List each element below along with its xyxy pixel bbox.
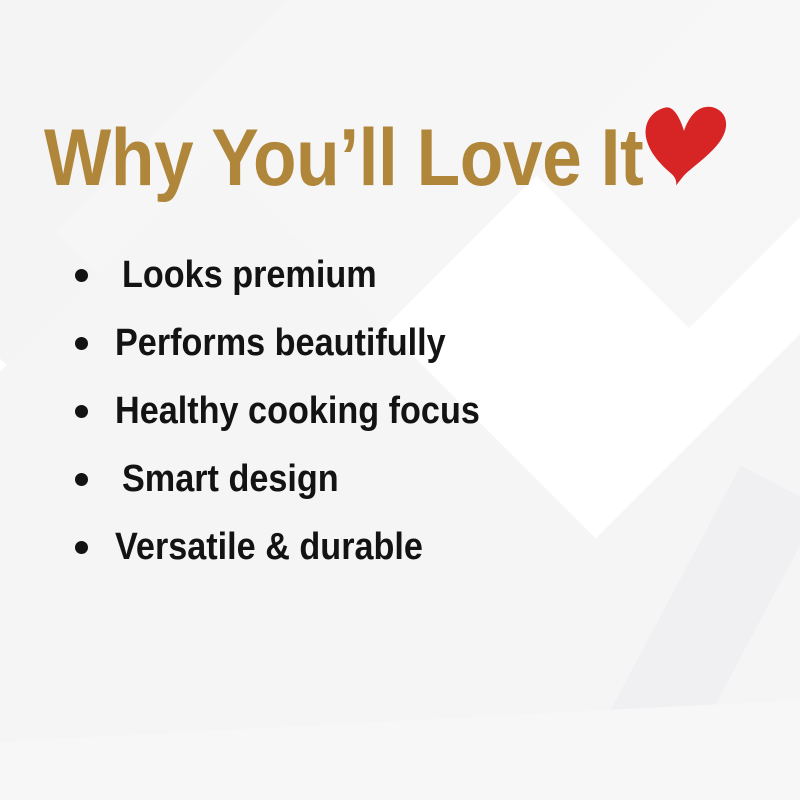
benefit-label-4: Smart design — [122, 459, 339, 499]
bullet-dot-icon — [75, 269, 88, 282]
benefits-list: Looks premium Performs beautifully Healt… — [70, 241, 730, 581]
bullet-dot-icon — [75, 541, 88, 554]
headline-row: Why You’ll Love It — [44, 116, 725, 200]
list-item: Healthy cooking focus — [70, 377, 730, 445]
background-facet-bottom-wash — [0, 695, 800, 800]
benefit-label-5: Versatile & durable — [115, 527, 423, 567]
bullet-dot-icon — [75, 337, 88, 350]
bullet-dot-icon — [75, 473, 88, 486]
list-item: Versatile & durable — [70, 513, 730, 581]
list-item: Smart design — [70, 445, 730, 513]
benefit-label-3: Healthy cooking focus — [115, 391, 480, 431]
heart-icon — [641, 99, 733, 195]
list-item: Performs beautifully — [70, 309, 730, 377]
why-you-will-love-it-poster: Why You’ll Love It Looks premium Perform… — [0, 0, 800, 800]
bullet-dot-icon — [75, 405, 88, 418]
list-item: Looks premium — [70, 241, 730, 309]
page-title: Why You’ll Love It — [44, 116, 643, 200]
benefit-label-1: Looks premium — [122, 255, 377, 295]
benefit-label-2: Performs beautifully — [115, 323, 446, 363]
